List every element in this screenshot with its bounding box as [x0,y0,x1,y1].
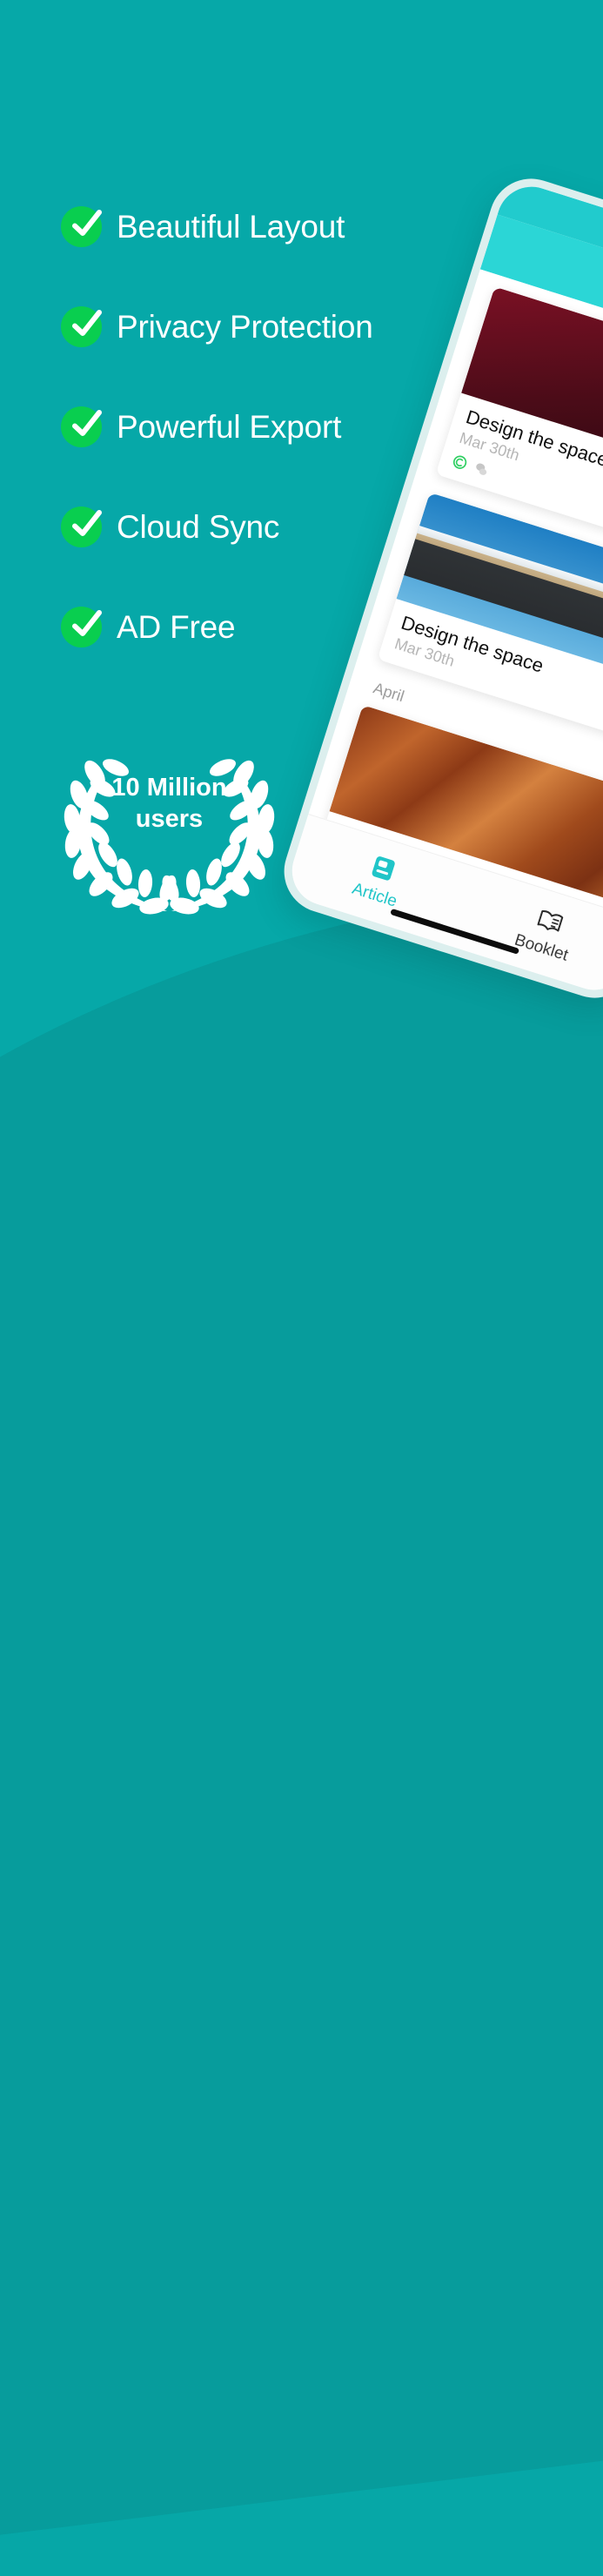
feature-list: Beautiful Layout Privacy Protection Powe… [61,200,470,701]
badge-text: 10 Million users [54,772,285,835]
feature-label: Powerful Export [117,411,341,443]
booklet-icon [533,904,566,937]
feature-item-cloud-sync: Cloud Sync [61,500,470,553]
feature-label: Cloud Sync [117,511,279,543]
tab-label: Article [350,880,399,912]
check-circle-icon [61,506,102,547]
background-curve-accent [0,766,603,2575]
check-circle-icon [61,406,102,447]
feature-item-privacy-protection: Privacy Protection [61,300,470,352]
user-count-badge: 10 Million users [54,744,285,918]
badge-line-1: 10 Million [54,772,285,803]
chat-icon [472,460,491,478]
feature-item-powerful-export: Powerful Export [61,400,470,453]
feature-label: Privacy Protection [117,311,373,343]
check-circle-icon [61,607,102,647]
feature-item-beautiful-layout: Beautiful Layout [61,200,470,252]
check-circle-icon [61,206,102,247]
tab-label: Booklet [512,931,570,966]
feature-item-ad-free: AD Free [61,600,470,653]
feature-label: Beautiful Layout [117,211,345,243]
article-icon [366,852,399,885]
check-circle-icon [61,306,102,347]
badge-line-2: users [54,803,285,835]
feature-label: AD Free [117,611,235,643]
